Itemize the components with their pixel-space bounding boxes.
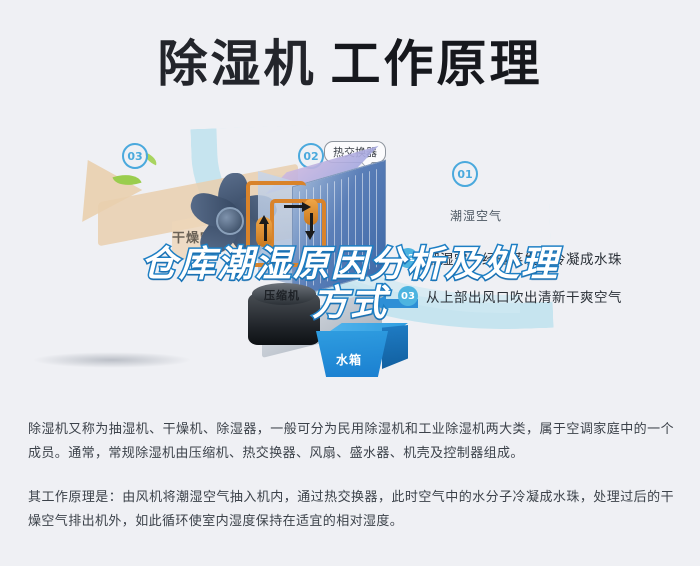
flow-arrow-stem — [310, 213, 313, 231]
legend-list: 02 潮湿空气经过蒸发器冷凝成水珠 03 从上部出风口吹出清新干爽空气 — [398, 248, 688, 324]
flow-arrow-stem — [264, 223, 267, 241]
flow-arrow-stem — [284, 205, 302, 208]
badge-03-dry-air: 03 — [122, 143, 148, 169]
flow-arrow-right-icon — [302, 202, 311, 212]
compressor-label: 压缩机 — [264, 287, 300, 303]
humid-air-label: 潮湿空气 — [450, 207, 502, 224]
water-tank: 水箱 — [316, 323, 408, 381]
infographic-page: 除湿机工作原理 干燥空气 03 02 — [0, 0, 700, 566]
legend-item: 03 从上部出风口吹出清新干爽空气 — [398, 286, 688, 306]
unit-shadow — [32, 352, 192, 368]
flow-arrow-down-icon — [305, 231, 315, 240]
legend-item: 02 潮湿空气经过蒸发器冷凝成水珠 — [398, 248, 688, 268]
flow-arrow-up-icon — [259, 215, 269, 224]
legend-badge: 02 — [398, 248, 418, 268]
badge-01-humid-air: 01 — [452, 161, 478, 187]
paragraph-2: 其工作原理是：由风机将潮湿空气抽入机内，通过热交换器，此时空气中的水分子冷凝成水… — [28, 486, 674, 534]
title-part-2: 工作原理 — [331, 35, 543, 93]
title-part-1: 除湿机 — [158, 35, 317, 93]
water-tank-label: 水箱 — [336, 351, 362, 368]
legend-badge: 03 — [398, 286, 418, 306]
body-copy: 除湿机又称为抽湿机、干燥机、除湿器，一般可分为民用除湿机和工业除湿机两大类，属于… — [28, 418, 674, 554]
page-title: 除湿机工作原理 — [0, 24, 700, 96]
legend-text: 从上部出风口吹出清新干爽空气 — [426, 286, 622, 306]
paragraph-1: 除湿机又称为抽湿机、干燥机、除湿器，一般可分为民用除湿机和工业除湿机两大类，属于… — [28, 418, 674, 466]
legend-text: 潮湿空气经过蒸发器冷凝成水珠 — [426, 248, 622, 268]
